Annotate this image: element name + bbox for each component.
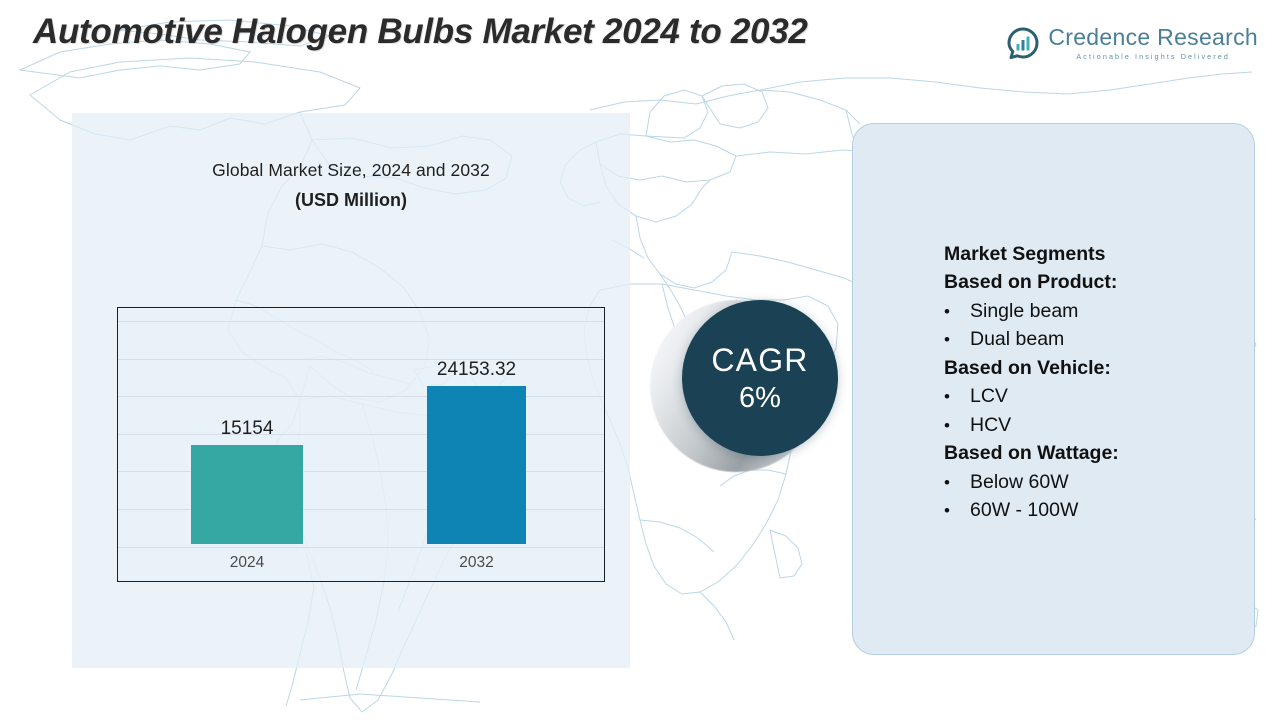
bullet-icon: • [944,300,970,325]
segment-list-3: •Below 60W•60W - 100W [944,468,1264,525]
segment-groups: Based on Product:•Single beam•Dual beamB… [944,268,1264,525]
segment-item-label: Dual beam [970,325,1064,354]
bar-chart-circle-icon [1007,27,1039,59]
chart-caption-line1: Global Market Size, 2024 and 2032 [72,160,630,181]
page-title: Automotive Halogen Bulbs Market 2024 to … [33,12,808,52]
cagr-badge: CAGR 6% [640,288,860,503]
bullet-icon: • [944,499,970,524]
brand-name: Credence Research [1048,26,1258,49]
segment-item: •Single beam [944,297,1264,326]
bar-chart: 15154202424153.322032 [117,307,605,582]
segment-item-label: Single beam [970,297,1078,326]
chart-bar-value-2032: 24153.32 [437,359,516,381]
segment-item: •HCV [944,411,1264,440]
segment-item: •Dual beam [944,325,1264,354]
chart-gridline [118,396,604,397]
market-segments-content: Market Segments Based on Product:•Single… [944,240,1264,525]
segment-item-label: LCV [970,382,1008,411]
chart-bar-2024: 151542024 [191,445,303,544]
brand-logo: Credence Research Actionable Insights De… [1007,26,1258,60]
cagr-label: CAGR [711,344,808,376]
segment-heading-3: Based on Wattage: [944,439,1264,467]
cagr-circle: CAGR 6% [682,300,838,456]
segment-item: •LCV [944,382,1264,411]
chart-gridline [118,547,604,548]
cagr-value: 6% [739,384,781,413]
segment-item-label: Below 60W [970,468,1069,497]
segment-item-label: HCV [970,411,1011,440]
chart-caption-line2: (USD Million) [72,190,630,211]
brand-tagline: Actionable Insights Delivered [1048,53,1258,60]
chart-x-label-2024: 2024 [230,554,264,572]
chart-gridline [118,359,604,360]
bullet-icon: • [944,471,970,496]
bullet-icon: • [944,328,970,353]
segment-item: •60W - 100W [944,496,1264,525]
chart-caption: Global Market Size, 2024 and 2032 (USD M… [72,160,630,211]
segment-heading-1: Based on Product: [944,268,1264,296]
chart-plot-area: 15154202424153.322032 [118,308,604,581]
segment-list-2: •LCV•HCV [944,382,1264,439]
bullet-icon: • [944,414,970,439]
segment-item-label: 60W - 100W [970,496,1078,525]
chart-gridline [118,321,604,322]
chart-gridline [118,434,604,435]
segments-title: Market Segments [944,240,1264,268]
bullet-icon: • [944,385,970,410]
segment-item: •Below 60W [944,468,1264,497]
chart-x-label-2032: 2032 [459,554,493,572]
segment-list-1: •Single beam•Dual beam [944,297,1264,354]
segment-heading-2: Based on Vehicle: [944,354,1264,382]
chart-bar-2032: 24153.322032 [427,386,526,544]
chart-bar-value-2024: 15154 [221,418,274,440]
